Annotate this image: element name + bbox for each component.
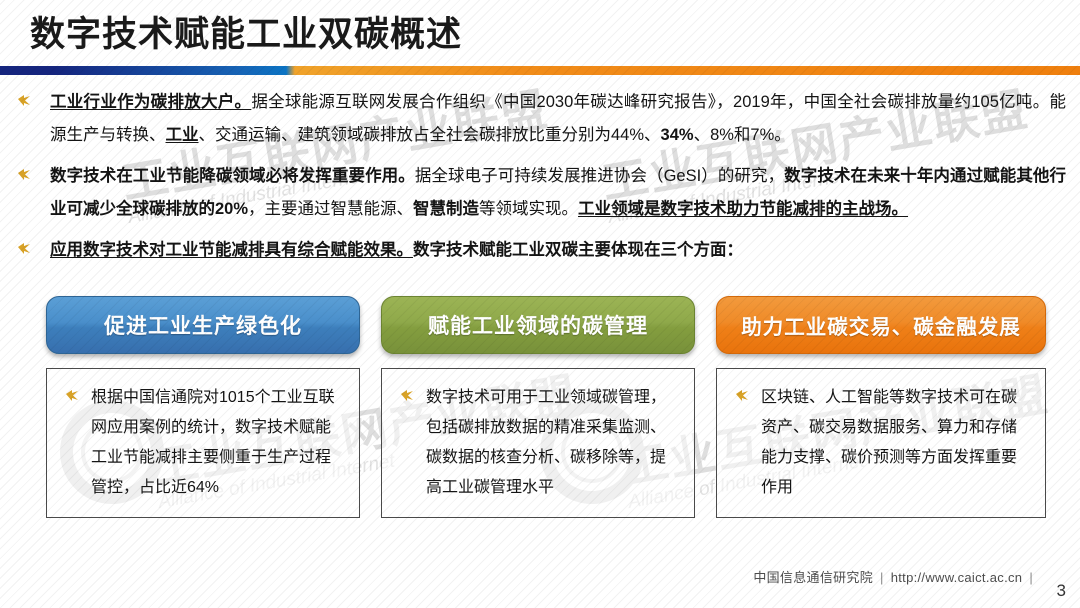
bullet-run: 应用数字技术对工业节能减排具有综合赋能效果。 <box>50 241 413 259</box>
bullet-run: 等领域实现。 <box>479 200 578 218</box>
footer-separator: | <box>1022 570 1040 585</box>
page-number: 3 <box>1057 581 1066 601</box>
footer-organization: 中国信息通信研究院 <box>753 570 873 585</box>
footer-website[interactable]: http://www.caict.ac.cn <box>891 570 1023 585</box>
bullet-run: 、交通运输、建筑领域碳排放占全社会碳排放比重分别为44%、 <box>199 126 661 144</box>
column-body-text: 区块链、人工智能等数字技术可在碳资产、碳交易数据服务、算力和存储能力支撑、碳价预… <box>761 383 1031 503</box>
bullet-text: 数字技术在工业节能降碳领域必将发挥重要作用。据全球电子可持续发展推进协会（GeS… <box>50 160 1066 226</box>
bullet-run: 智慧制造 <box>413 200 479 218</box>
bullet-run: 、8%和7%。 <box>694 126 791 144</box>
column-carbon-management: 赋能工业领域的碳管理 数字技术可用于工业领域碳管理，包括碳排放数据的精准采集监测… <box>381 296 695 518</box>
column-heading-button[interactable]: 赋能工业领域的碳管理 <box>381 296 695 354</box>
column-carbon-trading: 助力工业碳交易、碳金融发展 区块链、人工智能等数字技术可在碳资产、碳交易数据服务… <box>716 296 1046 518</box>
slide-canvas: 工业互联网产业联盟 Alliance of Industrial Interne… <box>0 0 1080 608</box>
bullet-run: 据全球电子可持续发展推进协会（GeSI）的研究， <box>415 167 784 185</box>
title-divider <box>0 66 1080 75</box>
column-heading-button[interactable]: 促进工业生产绿色化 <box>46 296 360 354</box>
slide-footer: 中国信息通信研究院|http://www.caict.ac.cn| 3 <box>0 554 1080 608</box>
bullet-run: 数字技术在工业节能降碳领域必将发挥重要作用。 <box>50 167 415 185</box>
column-body-text: 根据中国信通院对1015个工业互联网应用案例的统计，数字技术赋能工业节能减排主要… <box>91 383 345 503</box>
column-green-production: 促进工业生产绿色化 根据中国信通院对1015个工业互联网应用案例的统计，数字技术… <box>46 296 360 518</box>
gold-arrow-icon <box>66 390 78 401</box>
column-card: 根据中国信通院对1015个工业互联网应用案例的统计，数字技术赋能工业节能减排主要… <box>46 368 360 518</box>
bullet-item: 数字技术在工业节能降碳领域必将发挥重要作用。据全球电子可持续发展推进协会（GeS… <box>0 160 1080 226</box>
column-card: 数字技术可用于工业领域碳管理，包括碳排放数据的精准采集监测、碳数据的核查分析、碳… <box>381 368 695 518</box>
bullet-run: ，主要通过智慧能源、 <box>248 200 413 218</box>
bullet-run: 工业 <box>166 126 199 144</box>
bullet-run: 数字技术赋能工业双碳主要体现在三个方面： <box>413 241 743 259</box>
bullet-run: 工业行业作为碳排放大户。 <box>50 93 251 111</box>
three-column-section: 促进工业生产绿色化 根据中国信通院对1015个工业互联网应用案例的统计，数字技术… <box>0 296 1080 546</box>
gold-arrow-icon <box>18 169 30 180</box>
bullet-text: 工业行业作为碳排放大户。据全球能源互联网发展合作组织《中国2030年碳达峰研究报… <box>50 86 1066 152</box>
footer-credit: 中国信息通信研究院|http://www.caict.ac.cn| <box>753 567 1040 586</box>
column-heading-button[interactable]: 助力工业碳交易、碳金融发展 <box>716 296 1046 354</box>
gold-arrow-icon <box>401 390 413 401</box>
bullet-run: 34% <box>661 126 694 144</box>
gold-arrow-icon <box>18 243 30 254</box>
footer-separator: | <box>873 570 891 585</box>
column-body-text: 数字技术可用于工业领域碳管理，包括碳排放数据的精准采集监测、碳数据的核查分析、碳… <box>426 383 680 503</box>
bullet-item: 工业行业作为碳排放大户。据全球能源互联网发展合作组织《中国2030年碳达峰研究报… <box>0 86 1080 152</box>
gold-arrow-icon <box>736 390 748 401</box>
column-card: 区块链、人工智能等数字技术可在碳资产、碳交易数据服务、算力和存储能力支撑、碳价预… <box>716 368 1046 518</box>
slide-header: 数字技术赋能工业双碳概述 <box>0 0 1080 78</box>
bullet-item: 应用数字技术对工业节能减排具有综合赋能效果。数字技术赋能工业双碳主要体现在三个方… <box>0 234 1080 267</box>
bullet-text: 应用数字技术对工业节能减排具有综合赋能效果。数字技术赋能工业双碳主要体现在三个方… <box>50 234 1066 267</box>
bullet-run: 工业领域是数字技术助力节能减排的主战场。 <box>578 200 908 218</box>
page-title: 数字技术赋能工业双碳概述 <box>30 12 462 58</box>
gold-arrow-icon <box>18 95 30 106</box>
bullet-list: 工业行业作为碳排放大户。据全球能源互联网发展合作组织《中国2030年碳达峰研究报… <box>0 86 1080 275</box>
